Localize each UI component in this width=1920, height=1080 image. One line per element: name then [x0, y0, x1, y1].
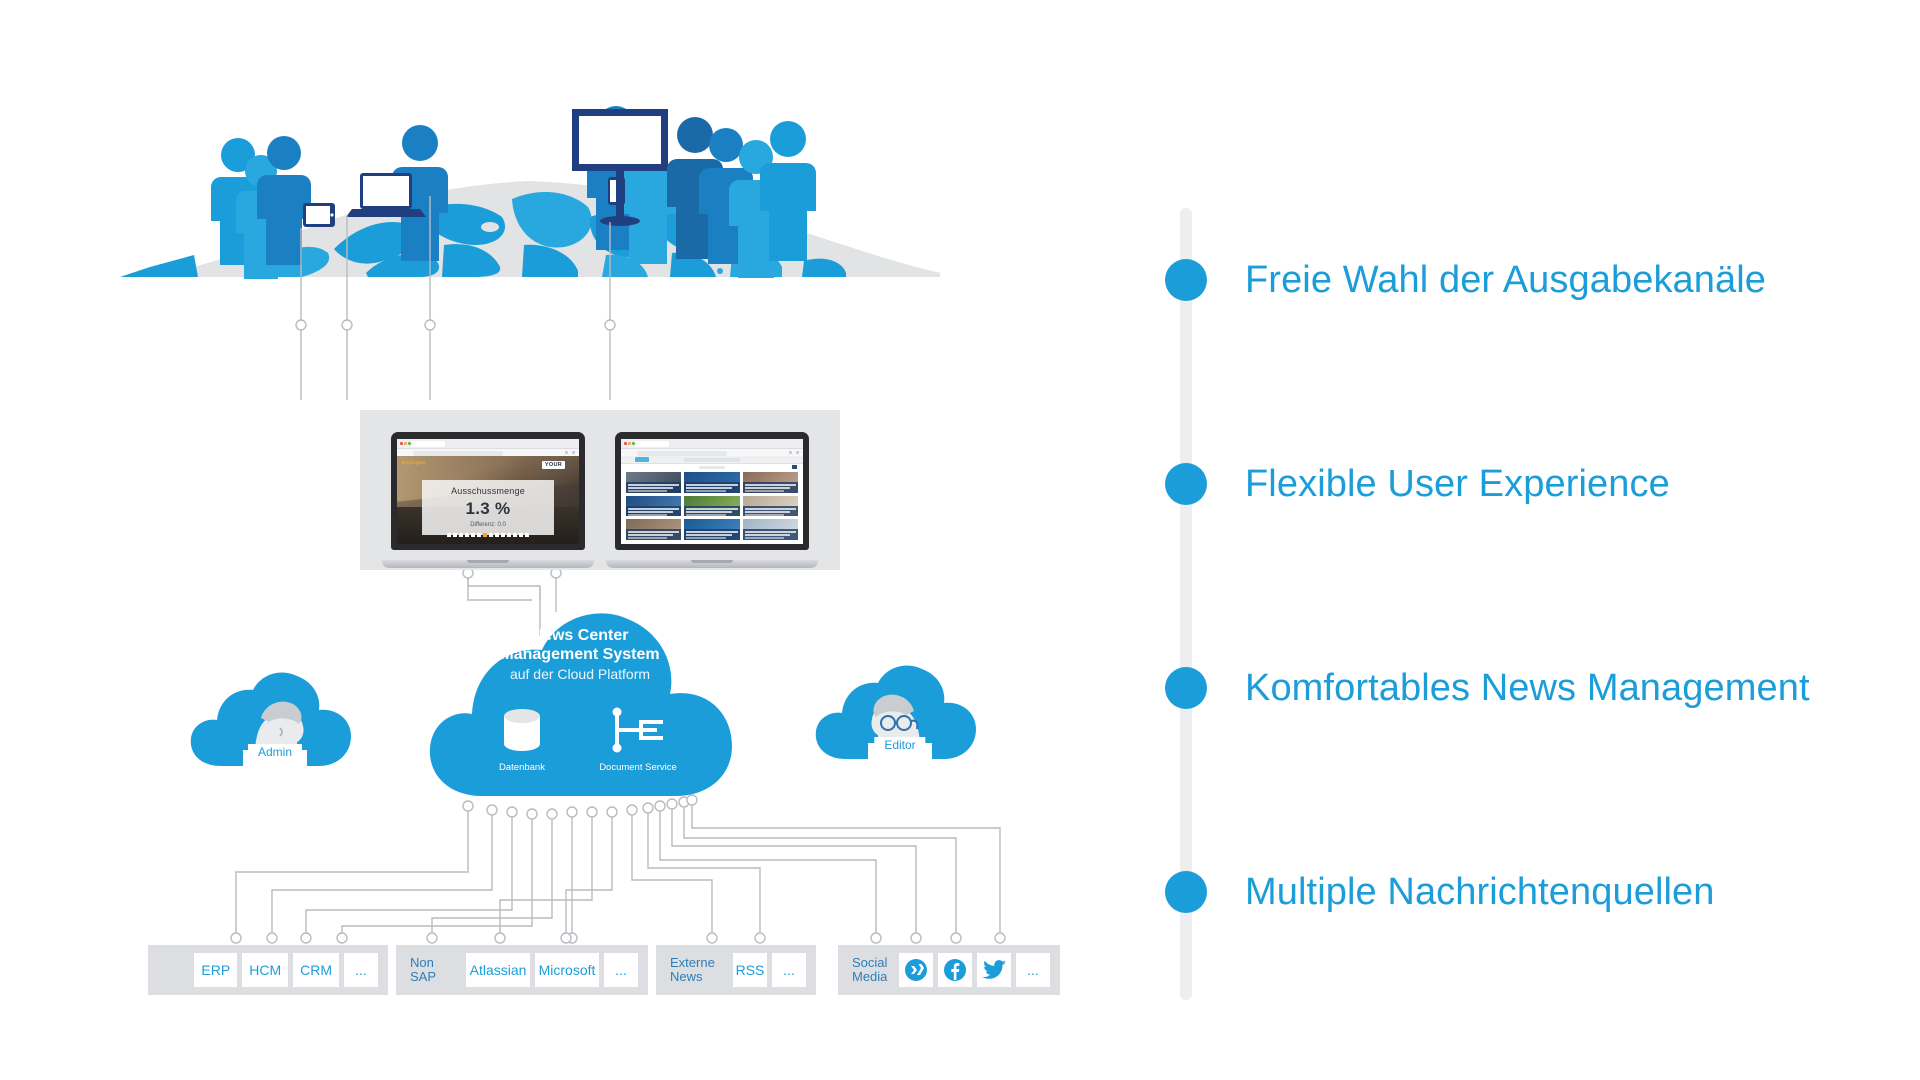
feature-item-1[interactable]: Flexible User Experience — [1165, 462, 1670, 506]
browser-menu-icon — [565, 451, 568, 454]
dashboard-content: Highlights YOUR Ausschussmenge 1.3 % Dif… — [397, 456, 579, 544]
laptop-news-portal — [606, 432, 818, 568]
feature-bullet-icon — [1165, 871, 1207, 913]
database-icon — [499, 706, 545, 754]
cloud-title-line2: Management System — [420, 645, 740, 664]
source-chip-facebook[interactable] — [938, 953, 972, 987]
portal-view-toggle-icon[interactable] — [792, 465, 797, 469]
source-chip-hcm[interactable]: HCM — [242, 953, 288, 987]
news-card[interactable] — [743, 496, 798, 517]
feature-label: Flexible User Experience — [1245, 463, 1670, 506]
kpi-value: 1.3 % — [426, 499, 549, 519]
xing-icon — [904, 958, 928, 982]
portal-header — [621, 456, 803, 464]
cloud-services: Datenbank Document Service — [420, 706, 740, 773]
audience-globe-illustration — [120, 95, 940, 355]
cloud-title-line1: News Center — [420, 626, 740, 645]
laptop-lid: Highlights YOUR Ausschussmenge 1.3 % Dif… — [391, 432, 585, 550]
source-chip-twitter[interactable] — [977, 953, 1011, 987]
feature-label: Komfortables News Management — [1245, 667, 1810, 710]
window-dots-icon — [400, 442, 411, 445]
source-chip-microsoft[interactable]: Microsoft — [535, 953, 599, 987]
kpi-card: Ausschussmenge 1.3 % Differenz: 0.0 — [422, 480, 553, 535]
laptop-dashboard: Highlights YOUR Ausschussmenge 1.3 % Dif… — [382, 432, 594, 568]
laptop-base — [606, 560, 818, 568]
source-group-external-news: Externe News RSS ... — [656, 945, 816, 995]
highlights-label: Highlights — [402, 460, 426, 465]
source-chip-rss[interactable]: RSS — [733, 953, 767, 987]
diagram-canvas: Highlights YOUR Ausschussmenge 1.3 % Dif… — [0, 0, 1920, 1080]
kpi-title: Ausschussmenge — [426, 486, 549, 496]
facebook-icon — [943, 958, 967, 982]
news-card[interactable] — [743, 519, 798, 540]
browser-tab — [411, 441, 445, 447]
database-caption: Datenbank — [483, 762, 561, 773]
source-group-sap: ERP HCM CRM ... — [148, 945, 388, 995]
news-card[interactable] — [626, 519, 681, 540]
news-card[interactable] — [626, 496, 681, 517]
slide-pagination[interactable] — [447, 533, 529, 537]
source-chip-more[interactable]: ... — [604, 953, 638, 987]
url-pill — [637, 451, 727, 456]
database-service: Datenbank — [483, 706, 561, 773]
admin-badge-label: Admin — [248, 744, 302, 760]
source-group-social-media: Social Media ... — [838, 945, 1060, 995]
feature-bullet-icon — [1165, 667, 1207, 709]
feature-label: Multiple Nachrichtenquellen — [1245, 871, 1715, 914]
browser-chrome — [397, 439, 579, 449]
laptop-screen: Highlights YOUR Ausschussmenge 1.3 % Dif… — [397, 439, 579, 544]
browser-chrome — [621, 439, 803, 449]
source-group-non-sap: Non SAP Atlassian Microsoft ... — [396, 945, 648, 995]
news-card[interactable] — [743, 472, 798, 493]
feature-item-0[interactable]: Freie Wahl der Ausgabekanäle — [1165, 258, 1766, 302]
news-portal-content — [621, 456, 803, 544]
feature-bullet-icon — [1165, 463, 1207, 505]
editor-badge-label: Editor — [874, 737, 925, 753]
portal-title-placeholder — [684, 458, 740, 462]
document-service-icon — [607, 706, 669, 754]
document-service: Document Service — [599, 706, 677, 773]
feature-bullet-icon — [1165, 259, 1207, 301]
window-dots-icon — [624, 442, 635, 445]
portal-logo — [635, 457, 649, 462]
kpi-delta: Differenz: 0.0 — [426, 522, 549, 528]
news-card[interactable] — [684, 472, 739, 493]
source-group-label: Social Media — [848, 956, 894, 984]
twitter-icon — [981, 958, 1007, 982]
browser-menu-icon — [789, 451, 792, 454]
laptop-base — [382, 560, 594, 568]
news-card-grid — [626, 472, 798, 540]
news-card[interactable] — [684, 519, 739, 540]
document-service-caption: Document Service — [599, 762, 677, 773]
feature-item-2[interactable]: Komfortables News Management — [1165, 666, 1810, 710]
editor-cloud: Editor — [810, 655, 990, 775]
admin-cloud: Admin — [185, 662, 365, 782]
source-chip-more[interactable]: ... — [1016, 953, 1050, 987]
source-chip-erp[interactable]: ERP — [194, 953, 237, 987]
browser-extension-icon — [796, 451, 799, 454]
url-pill — [413, 451, 503, 456]
portal-subheader — [621, 464, 803, 470]
news-card[interactable] — [684, 496, 739, 517]
brand-logo: YOUR — [542, 461, 565, 469]
source-chip-crm[interactable]: CRM — [293, 953, 339, 987]
cloud-subtitle: auf der Cloud Platform — [420, 666, 740, 682]
laptop-screen — [621, 439, 803, 544]
news-center-cloud: News Center Management System auf der Cl… — [420, 600, 740, 800]
source-group-label: Non SAP — [406, 956, 461, 984]
feature-label: Freie Wahl der Ausgabekanäle — [1245, 259, 1766, 302]
feature-item-3[interactable]: Multiple Nachrichtenquellen — [1165, 870, 1715, 914]
source-chip-more[interactable]: ... — [772, 953, 806, 987]
source-group-label: Externe News — [666, 956, 728, 984]
browser-tab — [635, 441, 669, 447]
source-chip-atlassian[interactable]: Atlassian — [466, 953, 530, 987]
cloud-title-block: News Center Management System auf der Cl… — [420, 626, 740, 682]
source-chip-xing[interactable] — [899, 953, 933, 987]
news-card[interactable] — [626, 472, 681, 493]
device-showcase-band: Highlights YOUR Ausschussmenge 1.3 % Dif… — [360, 410, 840, 570]
portal-section-placeholder — [699, 466, 725, 469]
laptop-lid — [615, 432, 809, 550]
browser-extension-icon — [572, 451, 575, 454]
source-chip-more[interactable]: ... — [344, 953, 378, 987]
